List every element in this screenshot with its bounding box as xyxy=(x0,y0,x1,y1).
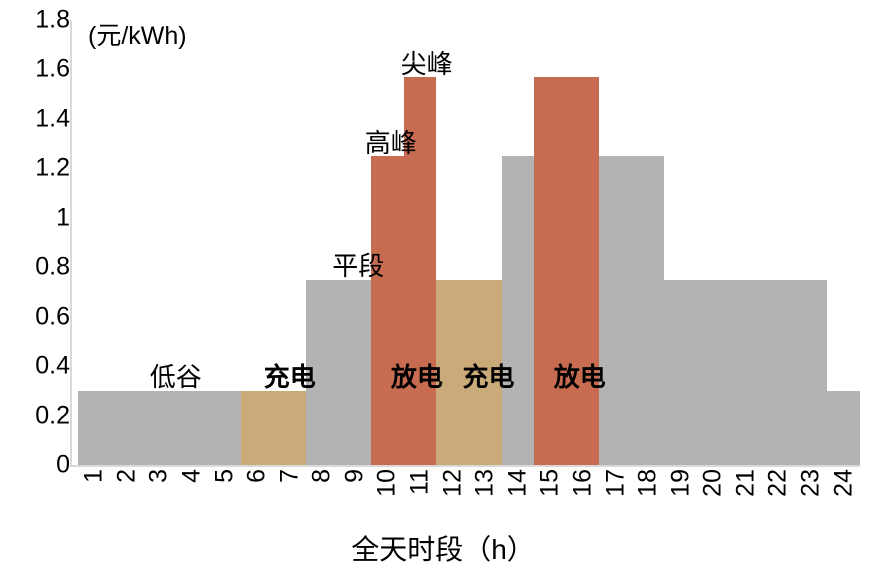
x-axis-tick: 24 xyxy=(827,467,860,525)
y-axis-tick-label: 1.6 xyxy=(0,57,70,82)
tier-label-flat: 平段 xyxy=(332,253,384,279)
bar-hour-19 xyxy=(664,280,697,465)
x-axis-tick: 9 xyxy=(339,467,372,525)
tier-label-sharp-peak: 尖峰 xyxy=(401,51,453,77)
x-axis-tick-label: 5 xyxy=(212,469,237,483)
x-axis-tick: 15 xyxy=(534,467,567,525)
x-axis-tick: 17 xyxy=(599,467,632,525)
x-axis-tick-labels: 123456789101112131415161718192021222324 xyxy=(78,467,860,525)
y-axis-tick-label: 0.4 xyxy=(0,354,70,379)
bar-hour-23 xyxy=(795,280,828,465)
x-axis-tick-label: 2 xyxy=(114,469,139,483)
x-axis-tick: 20 xyxy=(697,467,730,525)
x-axis-tick: 18 xyxy=(632,467,665,525)
x-axis-tick: 14 xyxy=(502,467,535,525)
bar-hour-21 xyxy=(730,280,763,465)
x-axis-tick-label: 22 xyxy=(766,469,791,497)
tier-label-valley: 低谷 xyxy=(150,364,202,390)
x-axis-tick-label: 1 xyxy=(82,469,107,483)
y-axis-tick-label: 0.6 xyxy=(0,304,70,329)
x-axis-tick: 2 xyxy=(111,467,144,525)
x-axis-tick-label: 4 xyxy=(180,469,205,483)
bar-hour-16 xyxy=(567,77,600,465)
bar-hour-10 xyxy=(371,156,404,465)
plot-area: 尖峰高峰平段低谷充电放电充电放电 xyxy=(78,20,860,465)
bar-hour-22 xyxy=(762,280,795,465)
x-axis-tick-label: 12 xyxy=(440,469,465,497)
y-axis-tick-labels: 1.81.61.41.210.80.60.40.20 xyxy=(0,0,70,480)
action-label-charge-2: 充电 xyxy=(463,364,515,390)
x-axis-tick-label: 18 xyxy=(636,469,661,497)
y-axis-tick-label: 1.2 xyxy=(0,156,70,181)
x-axis-tick: 8 xyxy=(306,467,339,525)
x-axis-tick-label: 17 xyxy=(603,469,628,497)
x-axis-tick-label: 16 xyxy=(570,469,595,497)
x-axis-tick: 10 xyxy=(371,467,404,525)
bar-hour-20 xyxy=(697,280,730,465)
x-axis-tick: 21 xyxy=(730,467,763,525)
bar-hour-17 xyxy=(599,156,632,465)
price-tou-bar-chart: 1.81.61.41.210.80.60.40.20 (元/kWh) 尖峰高峰平… xyxy=(0,0,886,572)
y-axis-tick-label: 1.8 xyxy=(0,8,70,33)
x-axis-tick-label: 8 xyxy=(310,469,335,483)
bar-hour-6 xyxy=(241,391,274,465)
bar-hour-7 xyxy=(273,391,306,465)
bar-hour-2 xyxy=(111,391,144,465)
bar-series xyxy=(78,20,860,465)
bar-hour-1 xyxy=(78,391,111,465)
y-axis-tick-label: 0.8 xyxy=(0,255,70,280)
x-axis-tick-label: 21 xyxy=(733,469,758,497)
bar-hour-3 xyxy=(143,391,176,465)
x-axis-tick-label: 24 xyxy=(831,469,856,497)
x-axis-tick-label: 7 xyxy=(277,469,302,483)
x-axis-tick-label: 15 xyxy=(538,469,563,497)
bar-hour-4 xyxy=(176,391,209,465)
x-axis-tick: 11 xyxy=(404,467,437,525)
x-axis-tick: 13 xyxy=(469,467,502,525)
action-label-charge-1: 充电 xyxy=(264,364,316,390)
x-axis-tick: 7 xyxy=(273,467,306,525)
x-axis-title: 全天时段（h） xyxy=(0,528,886,568)
x-axis-tick-label: 9 xyxy=(342,469,367,483)
y-axis-line xyxy=(70,20,72,466)
x-axis-tick-label: 14 xyxy=(505,469,530,497)
bar-hour-5 xyxy=(208,391,241,465)
x-axis-tick-label: 11 xyxy=(408,469,433,495)
x-axis-tick-label: 13 xyxy=(473,469,498,497)
x-axis-tick: 4 xyxy=(176,467,209,525)
bar-hour-15 xyxy=(534,77,567,465)
x-axis-tick-label: 20 xyxy=(701,469,726,497)
bar-hour-18 xyxy=(632,156,665,465)
action-label-discharge-2: 放电 xyxy=(554,364,606,390)
x-axis-tick-label: 3 xyxy=(147,469,172,483)
x-axis-tick-label: 10 xyxy=(375,469,400,497)
x-axis-tick: 6 xyxy=(241,467,274,525)
x-axis-tick-label: 19 xyxy=(668,469,693,497)
x-axis-tick-label: 23 xyxy=(799,469,824,497)
x-axis-tick: 23 xyxy=(795,467,828,525)
x-axis-tick: 19 xyxy=(664,467,697,525)
x-axis-tick: 5 xyxy=(208,467,241,525)
x-axis-tick: 22 xyxy=(762,467,795,525)
y-axis-tick-label: 0.2 xyxy=(0,403,70,428)
x-axis-tick: 16 xyxy=(567,467,600,525)
bar-hour-24 xyxy=(827,391,860,465)
y-axis-tick-label: 1.4 xyxy=(0,106,70,131)
x-axis-tick: 12 xyxy=(436,467,469,525)
x-axis-tick: 3 xyxy=(143,467,176,525)
action-label-discharge-1: 放电 xyxy=(391,364,443,390)
x-axis-tick-label: 6 xyxy=(245,469,270,483)
bar-hour-9 xyxy=(339,280,372,465)
x-axis-tick: 1 xyxy=(78,467,111,525)
y-axis-tick-label: 1 xyxy=(0,205,70,230)
tier-label-peak: 高峰 xyxy=(365,130,417,156)
bar-hour-14 xyxy=(502,156,535,465)
y-axis-tick-label: 0 xyxy=(0,453,70,478)
